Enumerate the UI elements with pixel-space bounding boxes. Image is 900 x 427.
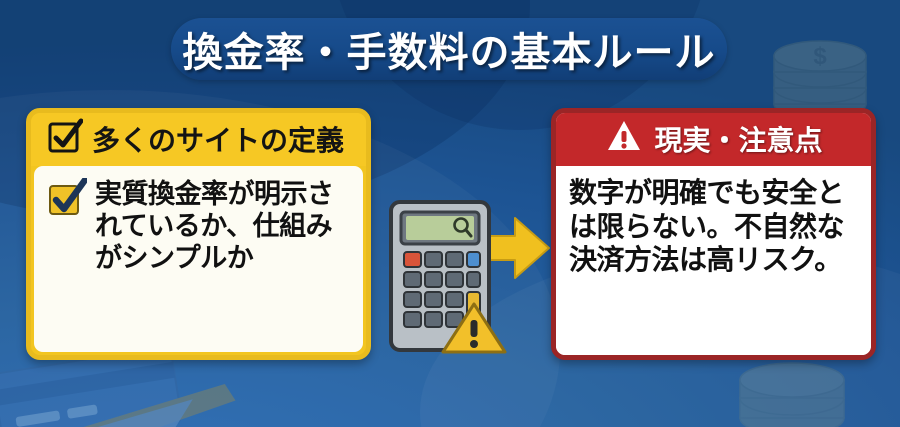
definition-card-body: 実質換金率が明示されているか、仕組みがシンプルか	[34, 166, 363, 352]
definition-card-header: 多くのサイトの定義	[31, 113, 366, 166]
page-title: 換金率・手数料の基本ルール	[183, 20, 716, 78]
arrow-right-icon	[485, 218, 549, 278]
checkbox-checked-icon	[47, 118, 83, 159]
calculator-graphic	[381, 192, 551, 360]
warning-triangle-icon	[606, 119, 642, 158]
checkbox-checked-icon	[47, 178, 87, 223]
definition-card: 多くのサイトの定義 実質換金率が明示されているか、仕組みがシンプルか	[26, 108, 371, 360]
page-title-bar: 換金率・手数料の基本ルール	[171, 18, 727, 80]
caution-card-body: 数字が明確でも安全とは限らない。不自然な決済方法は高リスク。	[556, 166, 871, 355]
caution-card: 現実・注意点 数字が明確でも安全とは限らない。不自然な決済方法は高リスク。	[551, 108, 876, 360]
caution-card-header-label: 現実・注意点	[654, 119, 822, 159]
definition-card-header-label: 多くのサイトの定義	[92, 119, 344, 159]
caution-card-header: 現実・注意点	[556, 113, 871, 166]
caution-card-body-text: 数字が明確でも安全とは限らない。不自然な決済方法は高リスク。	[569, 176, 859, 277]
definition-card-body-text: 実質換金率が明示されているか、仕組みがシンプルか	[95, 178, 351, 274]
svg-text:$: $	[813, 43, 827, 70]
